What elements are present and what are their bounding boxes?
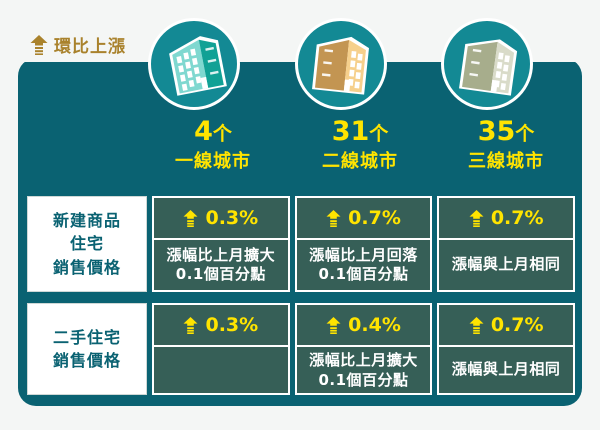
city-count-value-2: 31个	[280, 118, 440, 146]
up-arrow-icon	[30, 35, 48, 55]
city-count-col-2: 31个 二線城市	[280, 118, 440, 173]
row-cells: 0.3% 0.4% 漲幅比上月擴大0.1個百分點	[152, 303, 575, 395]
row-label-line: 銷售價格	[53, 256, 121, 279]
cell-value: 0.3%	[154, 305, 288, 347]
up-arrow-icon	[183, 317, 198, 334]
city-count-col-1: 4个 一線城市	[133, 118, 293, 173]
header-legend-label: 環比上漲	[54, 32, 126, 57]
cell-note: 漲幅比上月擴大0.1個百分點	[297, 347, 431, 394]
cell-value: 0.7%	[297, 198, 431, 240]
cell-value: 0.7%	[439, 198, 573, 240]
percent-value: 0.7%	[491, 314, 544, 336]
data-cell[interactable]: 0.7% 漲幅與上月相同	[437, 303, 575, 395]
table-row: 新建商品 住宅 銷售價格 0.3% 漲幅比上月擴大0.1個百分點	[27, 196, 575, 292]
row-cells: 0.3% 漲幅比上月擴大0.1個百分點 0.7% 漲幅比上月回落0.1個百分點	[152, 196, 575, 292]
percent-value: 0.4%	[348, 314, 401, 336]
city-count-label-2: 二線城市	[280, 147, 440, 173]
data-cell[interactable]: 0.3%	[152, 303, 290, 395]
city-count-value-1: 4个	[133, 118, 293, 146]
cell-note: 漲幅與上月相同	[439, 347, 573, 393]
data-cell[interactable]: 0.4% 漲幅比上月擴大0.1個百分點	[295, 303, 433, 395]
row-label-line: 銷售價格	[53, 349, 121, 372]
building-icon-teal	[148, 18, 240, 110]
building-icon-gold	[295, 18, 387, 110]
up-arrow-icon	[469, 317, 484, 334]
city-count-col-3: 35个 三線城市	[426, 118, 586, 173]
data-cell[interactable]: 0.3% 漲幅比上月擴大0.1個百分點	[152, 196, 290, 292]
header-legend: 環比上漲	[30, 32, 126, 57]
row-label-line: 住宅	[70, 232, 104, 255]
data-cell[interactable]: 0.7% 漲幅與上月相同	[437, 196, 575, 292]
data-cell[interactable]: 0.7% 漲幅比上月回落0.1個百分點	[295, 196, 433, 292]
city-count-label-1: 一線城市	[133, 147, 293, 173]
cell-note: 漲幅比上月擴大0.1個百分點	[154, 240, 288, 290]
row-label-new-homes: 新建商品 住宅 銷售價格	[27, 196, 147, 292]
building-icon-olive	[441, 18, 533, 110]
percent-value: 0.3%	[205, 207, 258, 229]
cell-value: 0.7%	[439, 305, 573, 347]
cell-note: 漲幅與上月相同	[439, 240, 573, 290]
cell-note	[154, 347, 288, 393]
row-label-line: 二手住宅	[53, 326, 121, 349]
up-arrow-icon	[469, 210, 484, 227]
city-count-label-3: 三線城市	[426, 147, 586, 173]
percent-value: 0.7%	[491, 207, 544, 229]
row-label-second-hand: 二手住宅 銷售價格	[27, 303, 147, 395]
cell-value: 0.4%	[297, 305, 431, 347]
up-arrow-icon	[326, 317, 341, 334]
row-label-line: 新建商品	[53, 209, 121, 232]
cell-value: 0.3%	[154, 198, 288, 240]
cell-note: 漲幅比上月回落0.1個百分點	[297, 240, 431, 290]
table-row: 二手住宅 銷售價格 0.3%	[27, 303, 575, 395]
city-count-value-3: 35个	[426, 118, 586, 146]
city-counts-row: 4个 一線城市 31个 二線城市 35个 三線城市	[18, 118, 582, 190]
up-arrow-icon	[326, 210, 341, 227]
percent-value: 0.7%	[348, 207, 401, 229]
up-arrow-icon	[183, 210, 198, 227]
percent-value: 0.3%	[205, 314, 258, 336]
price-change-table: 新建商品 住宅 銷售價格 0.3% 漲幅比上月擴大0.1個百分點	[27, 196, 575, 395]
